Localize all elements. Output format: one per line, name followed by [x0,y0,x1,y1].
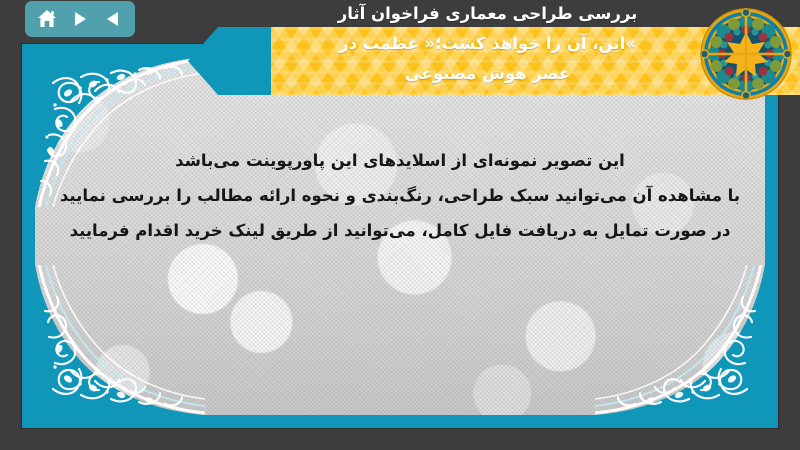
body-line-1: این تصویر نمونه‌ای از اسلایدهای این پاور… [51,143,749,178]
content-area: این تصویر نمونه‌ای از اسلایدهای این پاور… [35,57,765,415]
banner-chevron-left-icon [188,27,271,95]
filigree-corner-bottom-left-icon [35,265,205,415]
triangle-right-icon [70,9,90,29]
navigation-bar [25,1,135,37]
body-line-2: با مشاهده آن می‌توانید سبک طراحی، رنگ‌بن… [51,178,749,213]
home-icon [36,8,58,30]
content-frame: این تصویر نمونه‌ای از اسلایدهای این پاور… [22,44,778,428]
home-button[interactable] [34,6,60,32]
triangle-left-icon [103,9,123,29]
title-line-1: بررسی طراحی معماری فراخوان آثار [255,0,720,29]
slide-body-text: این تصویر نمونه‌ای از اسلایدهای این پاور… [51,143,749,248]
body-line-3: در صورت تمایل به دریافت فایل کامل، می‌تو… [51,213,749,248]
slide-root: این تصویر نمونه‌ای از اسلایدهای این پاور… [0,0,800,450]
next-button[interactable] [67,6,93,32]
persian-medallion-icon [698,6,794,102]
previous-button[interactable] [100,6,126,32]
filigree-corner-bottom-right-icon [595,265,765,415]
